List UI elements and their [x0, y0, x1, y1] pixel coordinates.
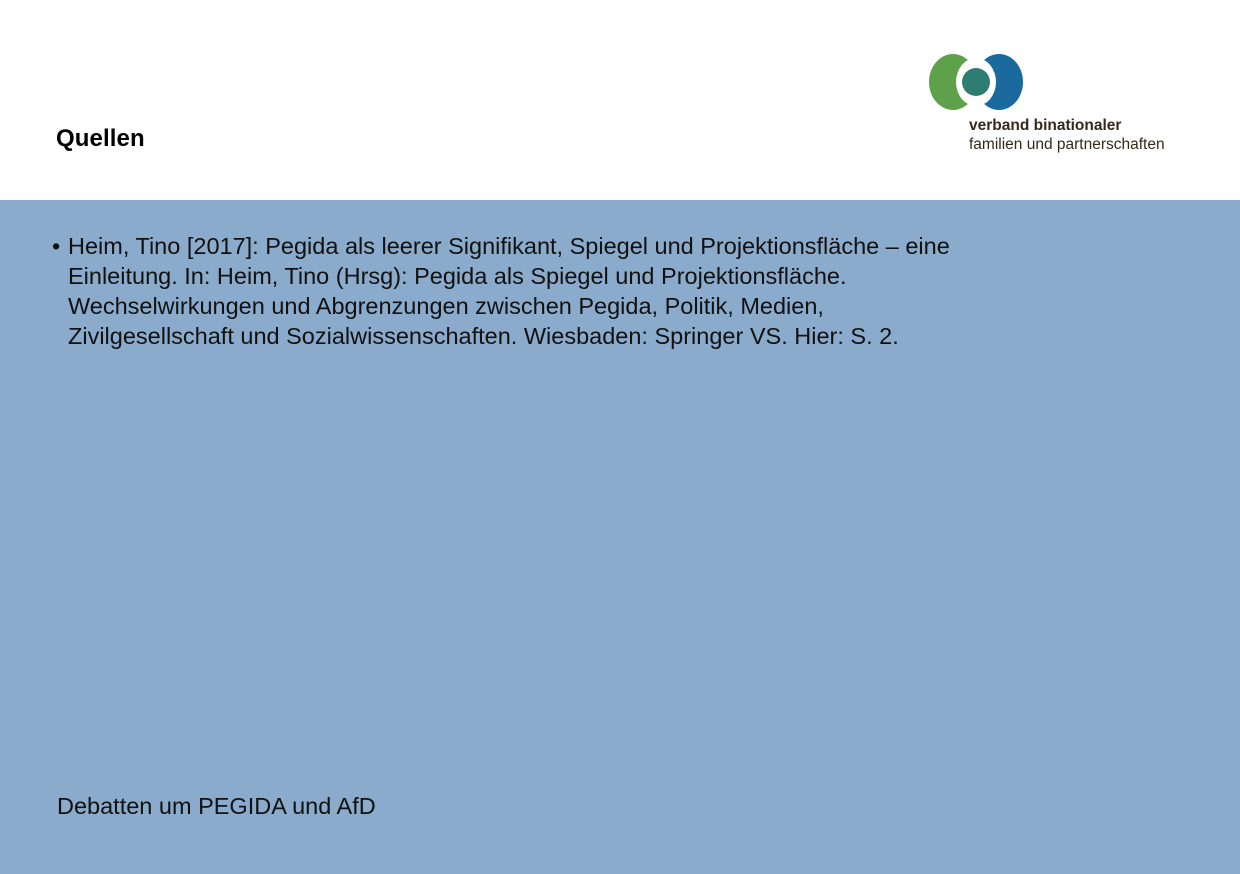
reference-list: • Heim, Tino [2017]: Pegida als leerer S…	[52, 231, 972, 351]
page-title: Quellen	[56, 125, 145, 153]
list-item: • Heim, Tino [2017]: Pegida als leerer S…	[52, 231, 972, 351]
slide: Quellen	[0, 0, 1240, 874]
logo-wordmark: verband binationaler familien und partne…	[969, 116, 1185, 154]
logo-mark-icon	[929, 54, 1023, 110]
logo-wordmark-line1: verband binationaler	[969, 116, 1185, 135]
slide-body: • Heim, Tino [2017]: Pegida als leerer S…	[0, 200, 1240, 874]
logo-mark-svg	[929, 54, 1023, 110]
bullet-marker-icon: •	[52, 231, 60, 261]
organization-logo: verband binationaler familien und partne…	[929, 54, 1185, 154]
logo-wordmark-line2: familien und partnerschaften	[969, 135, 1185, 154]
list-item-text: Heim, Tino [2017]: Pegida als leerer Sig…	[68, 233, 950, 349]
slide-header: Quellen	[0, 0, 1240, 200]
slide-footer-label: Debatten um PEGIDA und AfD	[57, 791, 376, 821]
